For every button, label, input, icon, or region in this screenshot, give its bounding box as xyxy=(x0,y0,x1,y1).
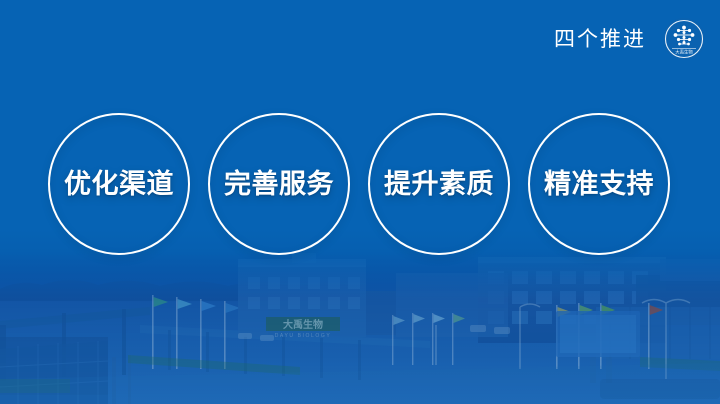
circle-item-4-label: 精准支持 xyxy=(544,171,654,198)
svg-text:大禹生物: 大禹生物 xyxy=(675,48,693,55)
circle-item-2[interactable]: 完善服务 xyxy=(208,113,350,255)
svg-text:大禹生物: 大禹生物 xyxy=(283,318,323,331)
circle-item-4[interactable]: 精准支持 xyxy=(528,113,670,255)
dayu-biology-logo-icon: 大禹生物 xyxy=(662,17,706,61)
circle-item-2-label: 完善服务 xyxy=(224,171,334,198)
slide-header: 四个推进 xyxy=(554,0,720,78)
circle-items-row: 优化渠道 完善服务 提升素质 精准支持 xyxy=(48,113,670,255)
circle-item-1-label: 优化渠道 xyxy=(64,171,174,198)
circle-item-3[interactable]: 提升素质 xyxy=(368,113,510,255)
circle-item-3-label: 提升素质 xyxy=(384,171,494,198)
presentation-slide: 大禹生物 DAYU BIOLOGY xyxy=(0,0,720,404)
background-photo: 大禹生物 DAYU BIOLOGY xyxy=(0,229,720,404)
circle-item-1[interactable]: 优化渠道 xyxy=(48,113,190,255)
svg-text:DAYU BIOLOGY: DAYU BIOLOGY xyxy=(275,333,332,339)
page-title: 四个推进 xyxy=(554,29,646,50)
